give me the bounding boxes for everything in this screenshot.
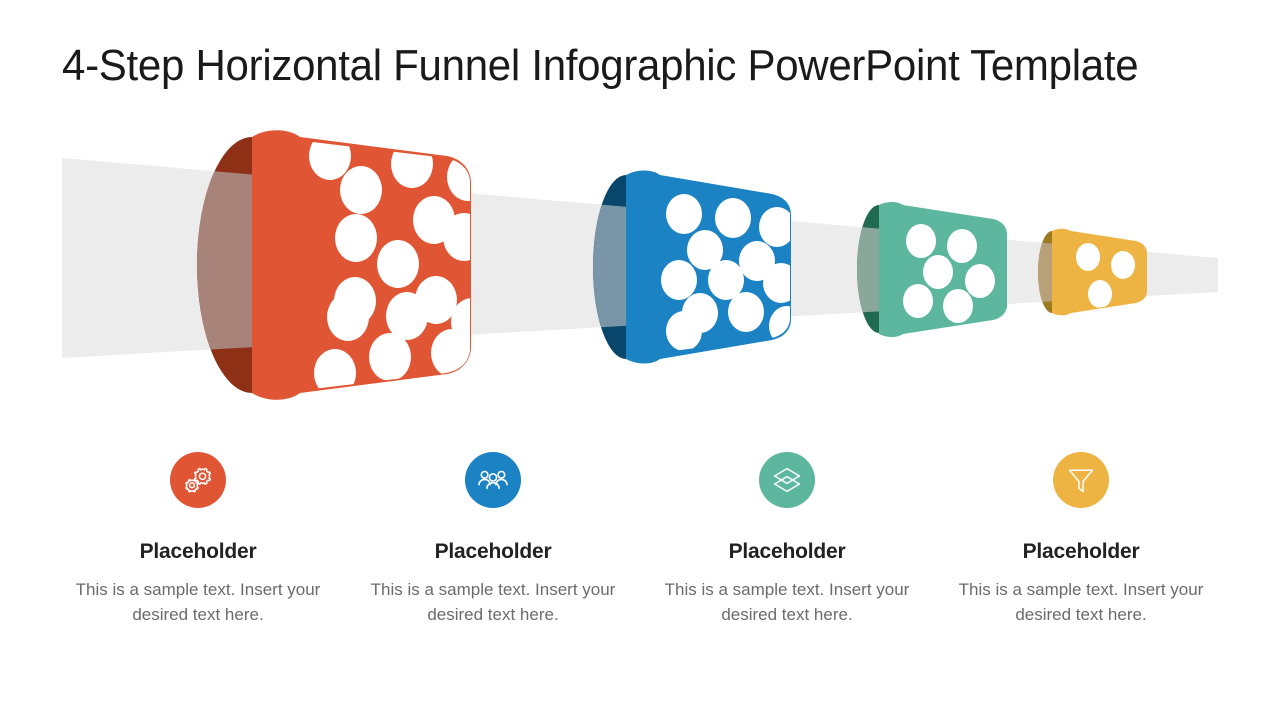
step-3-description: This is a sample text. Insert your desir… [640,577,934,627]
funnel-segment-2 [593,171,805,364]
step-4-title: Placeholder [934,540,1228,564]
step-4-description: This is a sample text. Insert your desir… [934,577,1228,627]
step-1-title: Placeholder [51,540,345,564]
funnel-diagram [0,120,1280,430]
step-3-title: Placeholder [640,540,934,564]
slide-canvas: 4-Step Horizontal Funnel Infographic Pow… [0,0,1280,720]
step-2-description: This is a sample text. Insert your desir… [346,577,640,627]
step-2-title: Placeholder [346,540,640,564]
gears-icon [181,463,215,497]
step-1-description: This is a sample text. Insert your desir… [51,577,345,627]
step-column-4[interactable]: Placeholder This is a sample text. Inser… [934,452,1228,627]
funnel-icon [1064,463,1098,497]
step-column-2[interactable]: Placeholder This is a sample text. Inser… [346,452,640,627]
step-column-1[interactable]: Placeholder This is a sample text. Inser… [51,452,345,627]
funnel-segment-4 [1038,229,1147,316]
step-column-3[interactable]: Placeholder This is a sample text. Inser… [640,452,934,627]
people-group-icon [476,463,510,497]
page-title: 4-Step Horizontal Funnel Infographic Pow… [62,38,1170,94]
step-1-icon-badge[interactable] [170,452,226,508]
layers-icon [770,463,804,497]
step-3-icon-badge[interactable] [759,452,815,508]
funnel-segment-3 [857,202,1007,337]
steps-row: Placeholder This is a sample text. Inser… [0,452,1280,652]
step-4-icon-badge[interactable] [1053,452,1109,508]
step-2-icon-badge[interactable] [465,452,521,508]
